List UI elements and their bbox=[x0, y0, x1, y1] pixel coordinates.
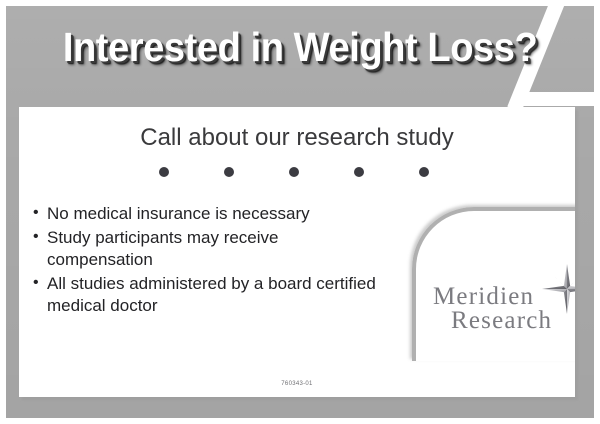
list-item: No medical insurance is necessary bbox=[33, 203, 383, 225]
meridien-research-logo: Meridien Research bbox=[433, 265, 575, 335]
content-panel: Call about our research study No medical… bbox=[19, 107, 575, 397]
reference-code: 760343-01 bbox=[19, 381, 575, 387]
phone-dot bbox=[419, 167, 429, 177]
phone-dot bbox=[354, 167, 364, 177]
compass-star-icon bbox=[541, 263, 575, 315]
headline-text: Interested in Weight Loss? bbox=[63, 22, 537, 72]
headline: Interested in Weight Loss? bbox=[0, 22, 600, 72]
phone-number-dots bbox=[159, 167, 429, 177]
advertisement-flyer: Interested in Weight Loss? Call about ou… bbox=[0, 0, 600, 424]
phone-dot bbox=[289, 167, 299, 177]
logo-line-research: Research bbox=[451, 307, 552, 335]
phone-dot bbox=[224, 167, 234, 177]
list-item: All studies administered by a board cert… bbox=[33, 273, 383, 317]
call-to-action-text: Call about our research study bbox=[19, 123, 575, 153]
benefit-list: No medical insurance is necessary Study … bbox=[33, 203, 383, 319]
phone-dot bbox=[159, 167, 169, 177]
list-item: Study participants may receive compensat… bbox=[33, 227, 383, 271]
horizontal-accent-stripe bbox=[520, 92, 600, 106]
